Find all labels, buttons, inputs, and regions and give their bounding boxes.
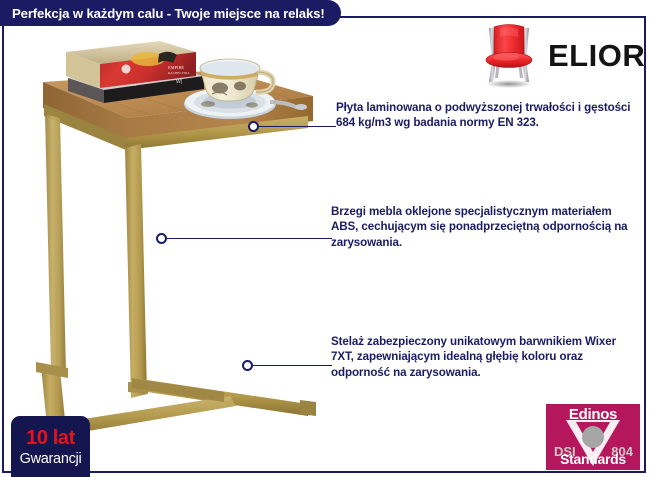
callout-line-3 bbox=[252, 365, 332, 366]
infographic-page: Perfekcja w każdym calu - Twoje miejsce … bbox=[0, 0, 650, 477]
red-chair-icon bbox=[480, 22, 538, 88]
callout-marker-1[interactable] bbox=[248, 121, 259, 132]
certification-subtitle: Standards bbox=[546, 451, 640, 467]
warranty-label: Gwarancji bbox=[20, 452, 82, 467]
callout-text-2: Brzegi mebla oklejone specjalistycznym m… bbox=[331, 204, 641, 250]
certification-title: Edinos bbox=[546, 406, 640, 423]
warranty-years: 10 lat bbox=[26, 428, 75, 448]
callout-text-3: Stelaż zabezpieczony unikatowym barwniki… bbox=[331, 334, 637, 380]
callout-line-2 bbox=[166, 238, 332, 239]
brand-logo: ELIOR bbox=[480, 20, 640, 90]
svg-text:EMPIRE: EMPIRE bbox=[168, 65, 184, 70]
callout-marker-2[interactable] bbox=[156, 233, 167, 244]
callout-line-1 bbox=[258, 126, 336, 127]
svg-text:W|: W| bbox=[176, 79, 182, 85]
certification-badge: Edinos DSI 804 Standards bbox=[546, 404, 640, 470]
brand-name: ELIOR bbox=[548, 40, 645, 71]
warranty-badge: 10 lat Gwarancji bbox=[11, 416, 90, 477]
header-title: Perfekcja w każdym calu - Twoje miejsce … bbox=[12, 6, 325, 21]
callout-marker-3[interactable] bbox=[242, 360, 253, 371]
header-banner: Perfekcja w każdym calu - Twoje miejsce … bbox=[0, 0, 341, 26]
svg-text:RACHEL HILL: RACHEL HILL bbox=[168, 71, 190, 75]
callout-text-1: Płyta laminowana o podwyższonej trwałośc… bbox=[336, 100, 636, 131]
